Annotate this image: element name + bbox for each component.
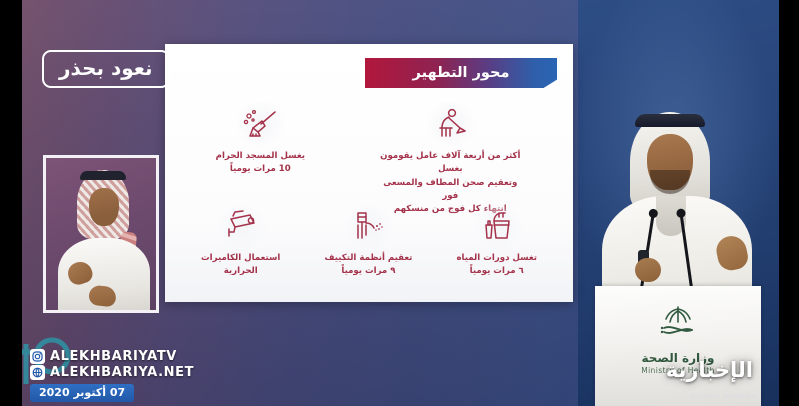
interpreter-igal-cord [80, 171, 126, 180]
broadcast-frame: وزارة الصحة Ministry of Health الإخبارية… [0, 0, 799, 406]
speaker-igal-cord [635, 114, 705, 127]
speaker-resting-hand [635, 258, 661, 282]
stat-item: تغسل دورات المياه٦ مرات يومياً [456, 204, 537, 279]
stat-item: استعمال الكاميراتالحرارية [201, 204, 280, 279]
card-title-banner: محور التطهير [365, 58, 557, 88]
sign-language-interpreter-inset [43, 155, 159, 313]
info-card: محور التطهير [165, 44, 573, 302]
os-activation-watermark: Activate Windows [690, 392, 755, 400]
thermal-camera-icon [215, 204, 267, 248]
social-handle: ALEKHBARIYATV [50, 349, 177, 364]
ac-sanitizing-spray-icon [342, 204, 394, 248]
stat-caption: يغسل المسجد الحرام10 مرات يومياً [216, 150, 305, 177]
social-row: ALEKHBARIYA.NET [30, 365, 194, 380]
card-title: محور التطهير [413, 65, 510, 81]
stat-item: يغسل المسجد الحرام10 مرات يومياً [216, 102, 305, 177]
saudi-palm-swords-emblem-icon [652, 303, 704, 345]
podium: وزارة الصحة Ministry of Health [595, 286, 761, 406]
website-icon [30, 365, 45, 380]
campaign-badge-label: نعود بحذر [59, 58, 153, 78]
stat-item: تعقيم أنظمة التكييف٩ مرات يومياً [324, 204, 412, 279]
stat-caption: استعمال الكاميراتالحرارية [201, 252, 280, 279]
campaign-badge: نعود بحذر [42, 50, 170, 88]
social-row: ALEKHBARIYATV [30, 349, 194, 364]
instagram-icon [30, 349, 45, 364]
interpreter-face [89, 188, 119, 226]
stat-row-bottom: استعمال الكاميراتالحرارية [179, 204, 559, 279]
stat-caption: تغسل دورات المياه٦ مرات يومياً [456, 252, 537, 279]
letterbox-left [0, 0, 22, 406]
broom-sweep-icon [234, 102, 286, 146]
channel-logo: الإخبارية [666, 358, 753, 382]
social-handles-bug: ALEKHBARIYATV ALEKHBARIYA.NET 07 أكتوبر … [30, 349, 194, 402]
stat-item: أكثر من أربعة آلاف عامل يقومون بغسلوتعقي… [378, 102, 522, 217]
speaker-camera-feed: وزارة الصحة Ministry of Health الإخبارية… [578, 0, 779, 406]
stat-caption: تعقيم أنظمة التكييف٩ مرات يومياً [324, 252, 412, 279]
stat-row-top: يغسل المسجد الحرام10 مرات يومياً [179, 102, 559, 217]
letterbox-right [779, 0, 799, 406]
social-handle: ALEKHBARIYA.NET [50, 365, 194, 380]
date-chip: 07 أكتوبر 2020 [30, 384, 134, 402]
bucket-cleaning-supplies-icon [471, 204, 523, 248]
worker-mopping-icon [424, 102, 476, 146]
